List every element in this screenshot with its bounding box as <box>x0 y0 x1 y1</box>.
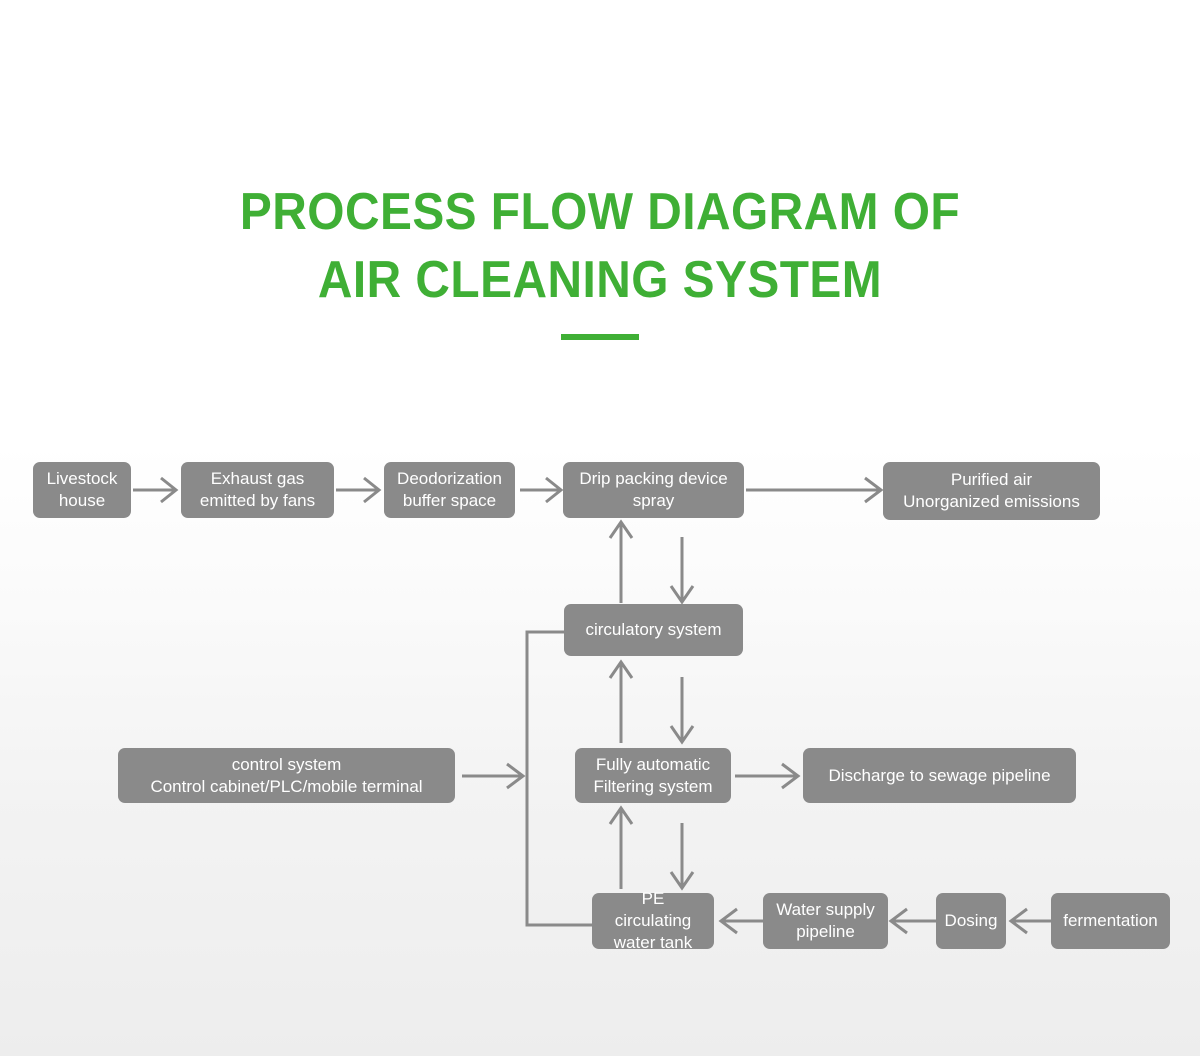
node-fermentation[interactable]: fermentation <box>1051 893 1170 949</box>
arrow-filtering-to-discharge <box>733 761 805 791</box>
diagram-canvas: PROCESS FLOW DIAGRAM OF AIR CLEANING SYS… <box>0 0 1200 1056</box>
node-water-supply-pipeline[interactable]: Water supply pipeline <box>763 893 888 949</box>
arrow-exhaust-to-deodorization <box>334 475 384 505</box>
arrow-deodorization-to-drip <box>518 475 566 505</box>
node-circulatory-system[interactable]: circulatory system <box>564 604 743 656</box>
title-underline-rule <box>561 334 639 340</box>
arrow-drip-to-purified <box>744 475 886 505</box>
node-dosing[interactable]: Dosing <box>936 893 1006 949</box>
node-filtering-system[interactable]: Fully automatic Filtering system <box>575 748 731 803</box>
arrow-livestock-to-exhaust <box>131 475 181 505</box>
node-discharge-sewage[interactable]: Discharge to sewage pipeline <box>803 748 1076 803</box>
node-drip-packing-device[interactable]: Drip packing device spray <box>563 462 744 518</box>
node-deodorization-buffer[interactable]: Deodorization buffer space <box>384 462 515 518</box>
arrow-circulatory-to-filtering-down <box>666 659 700 745</box>
page-title: PROCESS FLOW DIAGRAM OF AIR CLEANING SYS… <box>0 178 1200 340</box>
node-pe-water-tank[interactable]: PE circulating water tank <box>592 893 714 949</box>
title-line-2: AIR CLEANING SYSTEM <box>48 246 1152 314</box>
node-livestock-house[interactable]: Livestock house <box>33 462 131 518</box>
arrow-fermentation-to-dosing <box>1006 906 1054 936</box>
arrow-circulatory-to-drip-up <box>605 519 639 605</box>
arrow-dosing-to-water-supply <box>886 906 938 936</box>
node-purified-air[interactable]: Purified air Unorganized emissions <box>883 462 1100 520</box>
arrow-water-supply-to-pe-tank <box>716 906 768 936</box>
arrow-drip-to-circulatory-down <box>666 519 700 605</box>
arrow-filtering-to-pe-tank-down <box>666 805 700 891</box>
arrow-filtering-to-circulatory-up <box>605 659 639 745</box>
title-line-1: PROCESS FLOW DIAGRAM OF <box>48 178 1152 246</box>
arrow-pe-tank-to-filtering-up <box>605 805 639 891</box>
node-exhaust-gas[interactable]: Exhaust gas emitted by fans <box>181 462 334 518</box>
arrow-control-to-bracket <box>460 761 530 791</box>
node-control-system[interactable]: control system Control cabinet/PLC/mobil… <box>118 748 455 803</box>
